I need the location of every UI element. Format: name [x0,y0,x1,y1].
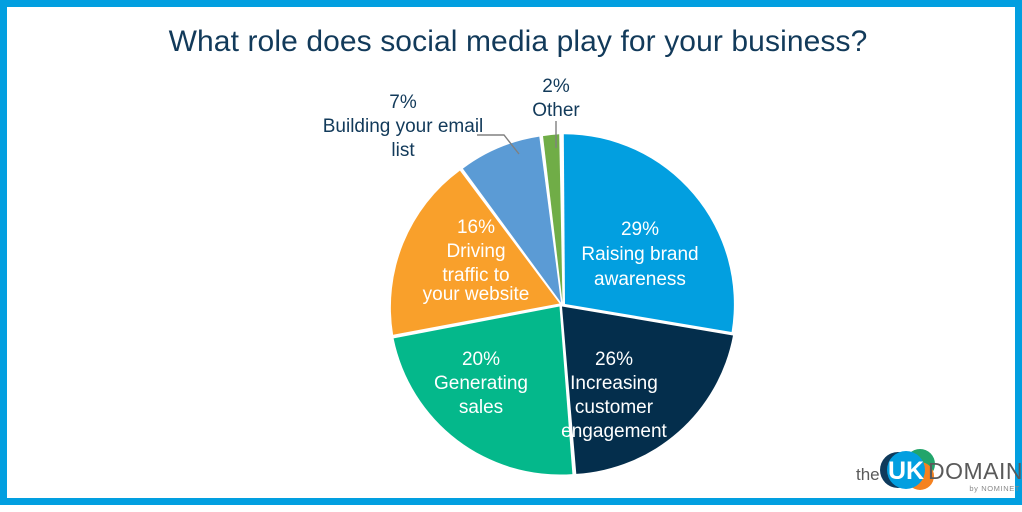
logo-byline-text: by NOMINET [969,484,1020,493]
slice-label-line: 20% [462,349,500,370]
uk-domain-logo[interactable]: the UK DOMAIN by NOMINET [856,444,1021,496]
slice-label-line: Raising brand [581,244,698,265]
slice-label-line: sales [459,397,503,418]
pie-chart: 29% Raising brand awareness 26% Increasi… [7,7,1022,512]
slice-label-line: traffic to [442,265,509,286]
logo-the-text: the [856,465,880,484]
slice-label-line: Driving [446,241,505,262]
slice-label-line: 7% [389,92,417,113]
slice-label-line: 2% [542,76,570,97]
slice-label-line: Building your email [323,116,484,137]
logo-circles-mark: UK [880,449,935,490]
slice-label-line: engagement [561,421,667,442]
slice-label-line: your website [423,284,530,305]
slice-label-other: 2% Other [532,76,580,121]
slice-label-line: Other [532,100,580,121]
slice-label-line: customer [575,397,654,418]
slice-label-line: awareness [594,269,686,290]
slice-label-line: list [391,140,415,161]
logo-domain-text: DOMAIN [928,458,1021,484]
slice-label-line: 26% [595,349,633,370]
slice-label-line: 16% [457,217,495,238]
slice-label-line: 29% [621,219,659,240]
infographic-canvas: What role does social media play for you… [0,0,1022,505]
slice-label-building-your-email-list: 7% Building your email list [323,92,484,161]
slice-label-line: Increasing [570,373,658,394]
slice-label-line: Generating [434,373,528,394]
logo-uk-text: UK [888,457,924,485]
